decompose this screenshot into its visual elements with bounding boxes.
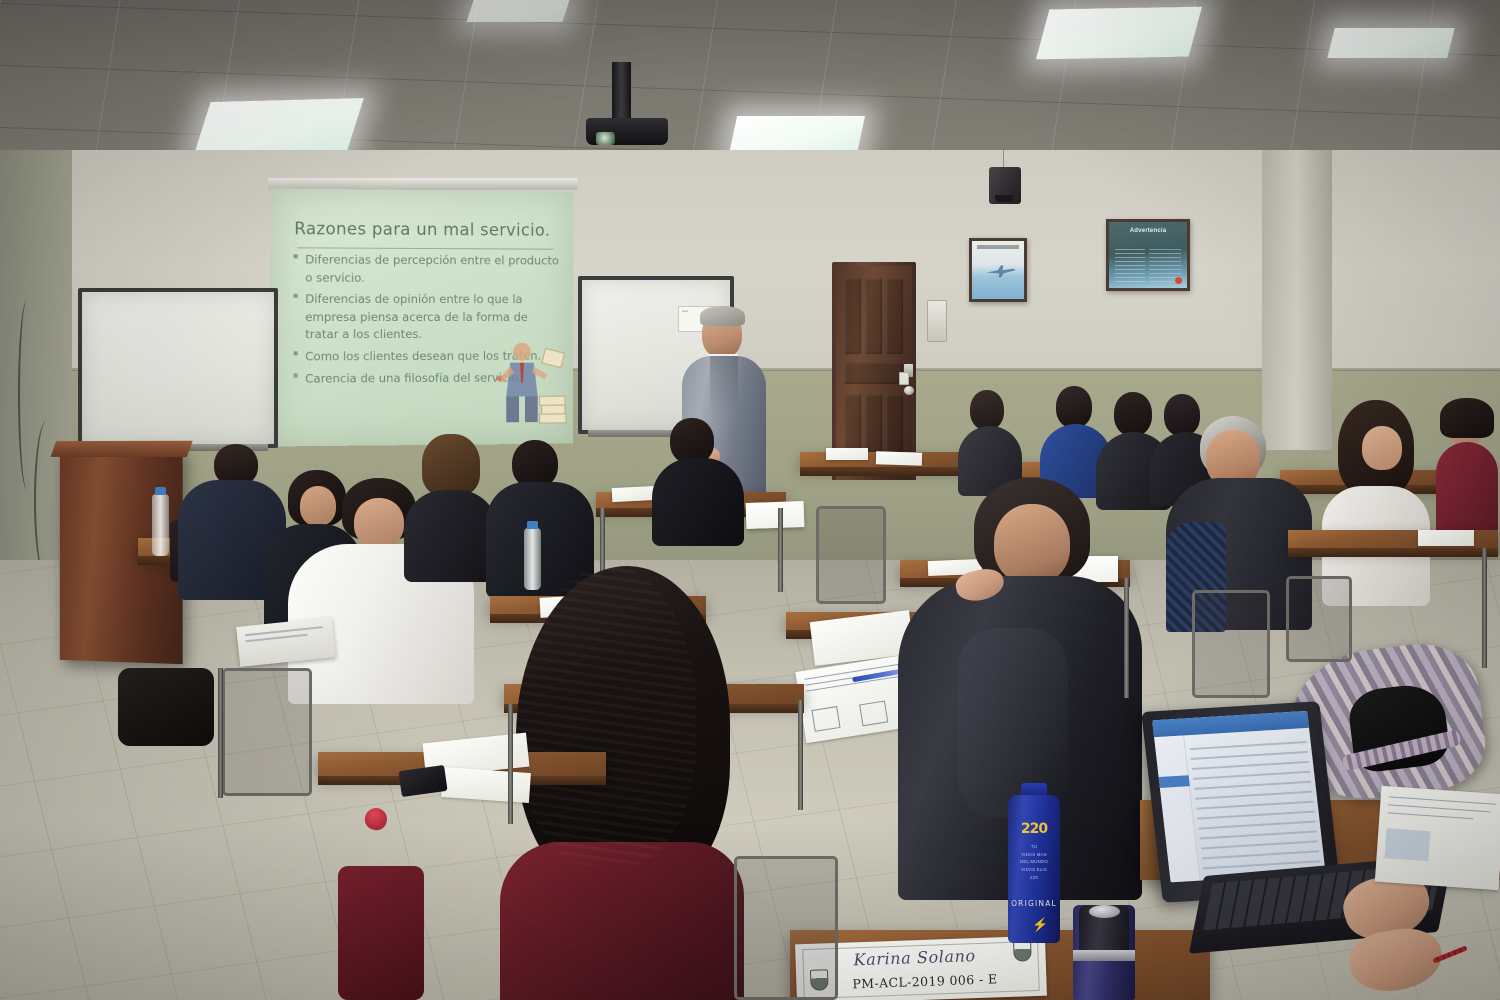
desk-leg	[798, 700, 803, 810]
energy-drink-bottle: 220 TU VIDAS MAS DEL MUNDO VIDAS ELIS 22…	[1008, 795, 1060, 943]
student-head	[970, 390, 1004, 430]
poster-header-band	[977, 245, 1019, 249]
projection-screen: Razones para un mal servicio. Diferencia…	[271, 188, 573, 446]
bottle-cap	[155, 487, 166, 495]
warning-poster-seal	[1175, 277, 1182, 284]
nameplate-crest-right	[1013, 940, 1032, 962]
ceiling-light-panel	[729, 116, 865, 154]
ceiling-light-panel	[466, 0, 569, 22]
energy-drink-variant: ORIGINAL	[1008, 899, 1060, 908]
chair	[1192, 590, 1270, 698]
student-head	[1056, 386, 1092, 428]
water-bottle	[152, 494, 169, 556]
projector-lens	[596, 132, 615, 145]
nameplate-card	[746, 501, 805, 529]
speaker-wire	[1003, 150, 1004, 168]
desk-leg	[1124, 578, 1129, 698]
slide-title: Razones para un mal servicio.	[271, 219, 573, 240]
student	[652, 418, 746, 538]
paper-sheet	[826, 448, 868, 460]
thermos-lid-top	[1089, 905, 1120, 918]
door-panel	[844, 362, 903, 384]
wall-cable	[18, 300, 36, 490]
energy-drink-brand: 220	[1008, 821, 1060, 837]
student-head	[994, 504, 1070, 584]
paper-sheet	[441, 767, 531, 803]
thermos-metal-ring	[1073, 950, 1135, 961]
student-head	[354, 498, 404, 548]
email-app-selected-folder	[1159, 775, 1190, 788]
chair	[222, 668, 312, 796]
floor-bag	[118, 668, 214, 746]
warning-poster-title: Advertencia	[1109, 228, 1187, 234]
desk-leg	[508, 704, 513, 824]
student	[958, 390, 1024, 490]
student	[1322, 400, 1432, 600]
ceiling-light-panel	[1327, 28, 1454, 58]
student-top	[404, 490, 498, 582]
wall-mounted-box	[927, 300, 947, 342]
student	[1436, 398, 1500, 548]
jacket-highlight	[958, 628, 1068, 818]
paper-sheet	[876, 451, 922, 466]
bottle-cap	[527, 521, 538, 529]
instructor-jacket-lapel-shadow	[710, 356, 738, 414]
whiteboard-left	[78, 288, 278, 448]
ceiling-light-panel	[194, 98, 364, 154]
chair	[816, 506, 886, 604]
projector-mount-pole	[612, 62, 631, 124]
instructor-hair	[700, 306, 745, 326]
ceiling-light-panel	[1036, 7, 1202, 60]
hair-strand-texture	[516, 566, 696, 866]
slide-bullet: Diferencias de percepción entre el produ…	[293, 251, 561, 287]
wall-outlet	[899, 372, 909, 385]
warning-poster-text-block	[1115, 248, 1145, 282]
paper-sheet	[1375, 786, 1500, 890]
handbag-foreground	[338, 866, 424, 1000]
desk-leg	[778, 508, 783, 592]
aviation-poster	[969, 238, 1027, 302]
podium-top-surface	[51, 441, 193, 457]
student-hair	[1440, 398, 1494, 438]
email-app-toolbar	[1152, 711, 1309, 737]
businessman-clipart	[483, 335, 567, 433]
student-head	[1362, 426, 1402, 470]
student-head	[512, 440, 558, 488]
student-hair	[422, 434, 480, 496]
student-head	[1114, 392, 1152, 436]
chair	[1286, 576, 1352, 662]
wall-speaker	[989, 167, 1021, 204]
paper-sheet	[612, 486, 657, 502]
slide-divider	[297, 247, 553, 249]
laptop-screen[interactable]	[1152, 711, 1325, 882]
paper-sheet	[1418, 530, 1474, 546]
warning-poster: Advertencia	[1106, 219, 1190, 291]
airplane-icon	[984, 263, 1018, 279]
lightning-bolt-icon: ⚡	[1032, 917, 1048, 933]
desk-leg	[218, 668, 223, 798]
student-top	[652, 458, 744, 546]
door-panel	[844, 278, 861, 354]
door-handle[interactable]	[904, 386, 914, 395]
desk-leg	[1482, 548, 1487, 668]
door-panel	[886, 278, 903, 354]
door-panel	[865, 278, 882, 354]
chair	[734, 856, 838, 1000]
classroom-photo: Advertencia Razones para un mal servicio…	[0, 0, 1500, 1000]
energy-drink-slogan: TU VIDAS MAS DEL MUNDO VIDAS ELIS 220	[1010, 843, 1058, 882]
